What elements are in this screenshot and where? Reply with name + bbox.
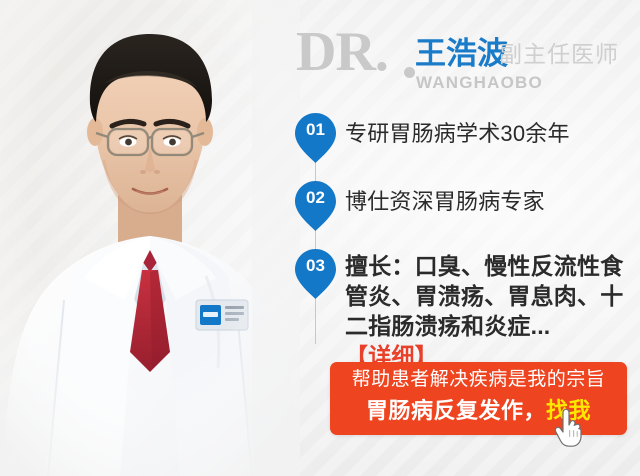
doctor-job-title: 副主任医师 bbox=[499, 43, 619, 66]
credential-specialty-text: 擅长：口臭、慢性反流性食管炎、胃溃疡、胃息肉、十二指肠溃疡和炎症...【详细】 bbox=[345, 248, 638, 372]
map-pin-icon: 01 bbox=[294, 112, 337, 164]
credential-item-3: 03 擅长：口臭、慢性反流性食管炎、胃溃疡、胃息肉、十二指肠溃疡和炎症...【详… bbox=[294, 248, 638, 372]
doctor-portrait-photo bbox=[0, 0, 300, 476]
credential-item-1: 01 专研胃肠病学术30余年 bbox=[294, 112, 638, 164]
map-pin-icon: 03 bbox=[294, 248, 337, 300]
credential-number: 03 bbox=[294, 257, 337, 274]
doctor-name-header: DR. 王浩波 副主任医师 WANGHAOBO bbox=[296, 22, 636, 102]
credential-text: 博仕资深胃肠病专家 bbox=[345, 180, 545, 216]
cta-slogan-line1: 帮助患者解决疾病是我的宗旨 bbox=[330, 370, 627, 389]
credential-number: 02 bbox=[294, 189, 337, 206]
credential-item-2: 02 博仕资深胃肠病专家 bbox=[294, 180, 638, 232]
doctor-name: 王浩波 bbox=[415, 38, 508, 69]
credential-number: 01 bbox=[294, 121, 337, 138]
doctor-name-pinyin: WANGHAOBO bbox=[416, 74, 543, 91]
dr-wordmark: DR. bbox=[296, 24, 388, 80]
dr-period-dot bbox=[404, 67, 415, 78]
cta-slogan-line2: 胃肠病反复发作，找我 bbox=[330, 400, 627, 422]
map-pin-icon: 02 bbox=[294, 180, 337, 232]
doctor-promo-banner: DR. 王浩波 副主任医师 WANGHAOBO 01 专研胃肠病学术30余年 0… bbox=[0, 0, 640, 476]
specialty-label: 擅长： bbox=[345, 253, 415, 279]
cta-banner[interactable]: 帮助患者解决疾病是我的宗旨 胃肠病反复发作，找我 bbox=[330, 362, 627, 435]
credentials-timeline: 01 专研胃肠病学术30余年 02 博仕资深胃肠病专家 03 擅长：口臭、慢性反… bbox=[294, 112, 638, 372]
cta-line2-prefix: 胃肠病反复发作， bbox=[366, 398, 546, 423]
cta-highlight-text[interactable]: 找我 bbox=[546, 398, 591, 423]
credential-text: 专研胃肠病学术30余年 bbox=[345, 112, 570, 148]
